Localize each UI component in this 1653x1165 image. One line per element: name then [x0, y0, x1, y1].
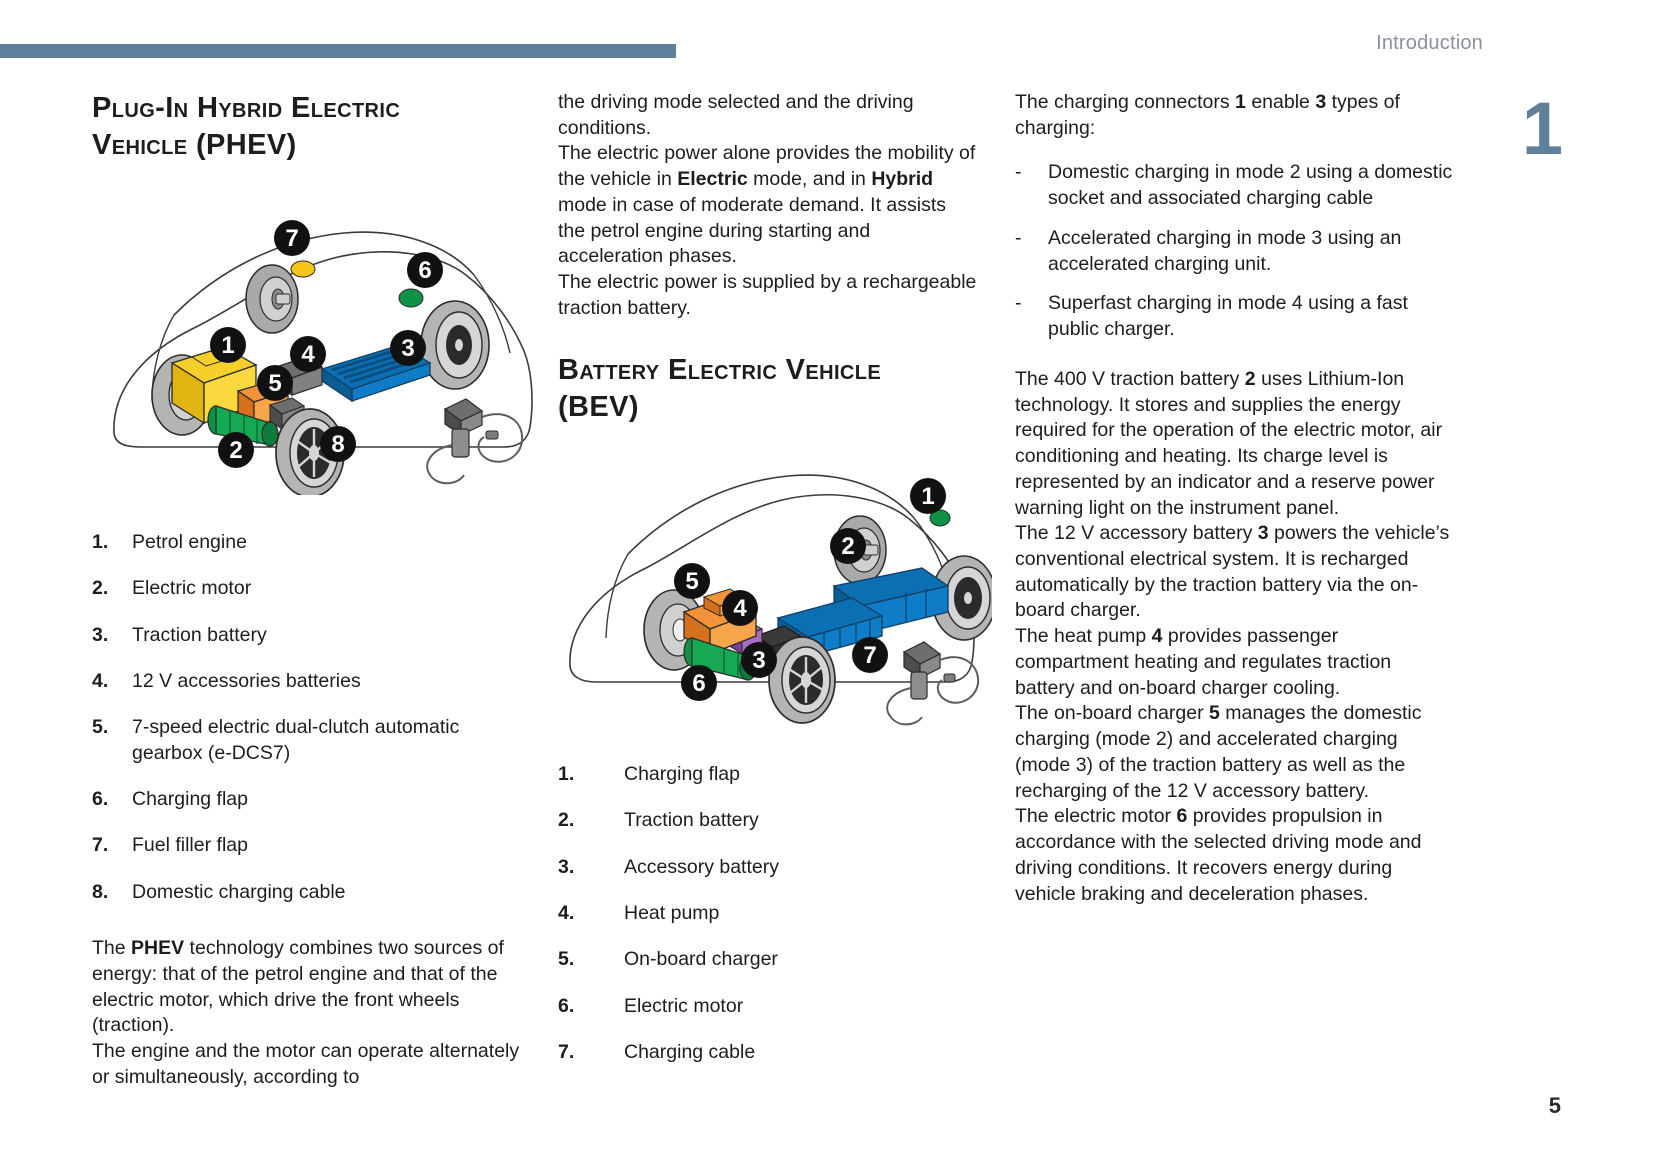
- list-item: 3.Accessory battery: [558, 855, 978, 880]
- svg-text:5: 5: [685, 568, 698, 595]
- phev-operation-paragraph: The engine and the motor can operate alt…: [92, 1039, 532, 1090]
- callout-5: 5: [674, 563, 710, 599]
- fuel-filler-flap-part: [291, 261, 315, 277]
- list-item: 4.Heat pump: [558, 901, 978, 926]
- motor-bold: 6: [1176, 805, 1187, 827]
- svg-text:4: 4: [733, 595, 747, 622]
- list-number: 7.: [558, 1040, 624, 1065]
- traction-pre: The 400 V traction battery: [1015, 368, 1245, 390]
- svg-text:1: 1: [221, 332, 234, 359]
- heatpump-bold: 4: [1152, 625, 1163, 647]
- list-item: 4.12 V accessories batteries: [92, 669, 532, 694]
- list-text: Electric motor: [132, 576, 532, 601]
- svg-text:7: 7: [863, 642, 876, 669]
- list-item: -Accelerated charging in mode 3 using an…: [1015, 226, 1455, 277]
- bev-parts-list-block: 1.Charging flap 2.Traction battery 3.Acc…: [558, 762, 978, 1086]
- bev-title-line2: (BEV): [558, 391, 639, 423]
- list-text: Accelerated charging in mode 3 using an …: [1048, 226, 1455, 277]
- charging-flap-part: [399, 289, 423, 307]
- svg-text:3: 3: [752, 647, 765, 674]
- callout-6: 6: [407, 252, 443, 288]
- list-item: -Domestic charging in mode 2 using a dom…: [1015, 160, 1455, 211]
- chapter-number: 1: [1522, 92, 1561, 166]
- list-text: Electric motor: [624, 994, 978, 1019]
- callout-8: 8: [320, 426, 356, 462]
- intro-mid: enable: [1246, 91, 1315, 113]
- list-item: 7.Fuel filler flap: [92, 833, 532, 858]
- phev-technology-paragraph: The PHEV technology combines two sources…: [92, 936, 532, 1039]
- traction-bold: 2: [1245, 368, 1256, 390]
- front-right-wheel: [769, 637, 835, 723]
- list-text: Accessory battery: [624, 855, 978, 880]
- obc-pre: The on-board charger: [1015, 702, 1209, 724]
- mid-bold-electric: Electric: [677, 168, 747, 190]
- list-number: 5.: [558, 947, 624, 972]
- callout-1: 1: [910, 478, 946, 514]
- callout-5: 5: [257, 365, 293, 401]
- electric-motor-paragraph: The electric motor 6 provides propulsion…: [1015, 804, 1455, 907]
- phev-cutaway-diagram: 1 2 3 4 5 6 7: [100, 195, 540, 495]
- callout-2: 2: [218, 432, 254, 468]
- svg-text:1: 1: [921, 483, 934, 510]
- callout-4: 4: [290, 336, 326, 372]
- charging-connectors-paragraph: The charging connectors 1 enable 3 types…: [1015, 90, 1455, 141]
- dash-marker: -: [1015, 226, 1048, 277]
- list-text: 7-speed electric dual-clutch automatic g…: [132, 715, 532, 766]
- header-rule: [0, 44, 676, 58]
- motor-pre: The electric motor: [1015, 805, 1176, 827]
- list-text: Charging flap: [132, 787, 532, 812]
- rear-axle-hub: [246, 265, 298, 333]
- heatpump-pre: The heat pump: [1015, 625, 1152, 647]
- list-text: Charging cable: [624, 1040, 978, 1065]
- phev-para-bold: PHEV: [131, 937, 184, 959]
- phev-parts-list: 1.Petrol engine 2.Electric motor 3.Tract…: [92, 530, 532, 905]
- phev-parts-list-block: 1.Petrol engine 2.Electric motor 3.Tract…: [92, 530, 532, 1091]
- intro-bold-3: 3: [1315, 91, 1326, 113]
- svg-text:6: 6: [418, 257, 431, 284]
- callout-1: 1: [210, 327, 246, 363]
- intro-bold-1: 1: [1235, 91, 1246, 113]
- list-text: Domestic charging in mode 2 using a dome…: [1048, 160, 1455, 211]
- list-text: Charging flap: [624, 762, 978, 787]
- on-board-charger-paragraph: The on-board charger 5 manages the domes…: [1015, 701, 1455, 804]
- heat-pump-paragraph: The heat pump 4 provides passenger compa…: [1015, 624, 1455, 701]
- list-number: 5.: [92, 715, 132, 766]
- left-column: Plug-In Hybrid Electric Vehicle (PHEV): [92, 90, 532, 170]
- mid-paragraph-electric: The electric power alone provides the mo…: [558, 141, 978, 270]
- mid-para-b: mode, and in: [748, 168, 872, 190]
- callout-2: 2: [830, 528, 866, 564]
- list-item: 3.Traction battery: [92, 623, 532, 648]
- callout-3: 3: [390, 330, 426, 366]
- list-number: 6.: [92, 787, 132, 812]
- list-text: Petrol engine: [132, 530, 532, 555]
- svg-text:2: 2: [229, 437, 242, 464]
- list-text: Fuel filler flap: [132, 833, 532, 858]
- list-text: Heat pump: [624, 901, 978, 926]
- list-number: 1.: [92, 530, 132, 555]
- mid-para-c: mode in case of moderate demand. It assi…: [558, 194, 946, 267]
- list-text: On-board charger: [624, 947, 978, 972]
- list-item: 8.Domestic charging cable: [92, 880, 532, 905]
- callout-3: 3: [741, 642, 777, 678]
- list-text: Traction battery: [132, 623, 532, 648]
- bev-title-line1: Battery Electric Vehicle: [558, 354, 881, 386]
- mid-paragraph-bottom: The electric power is supplied by a rech…: [558, 270, 978, 321]
- list-number: 8.: [92, 880, 132, 905]
- list-number: 4.: [92, 669, 132, 694]
- mid-column: the driving mode selected and the drivin…: [558, 90, 978, 432]
- mid-bold-hybrid: Hybrid: [871, 168, 933, 190]
- accessory-pre: The 12 V accessory battery: [1015, 522, 1258, 544]
- callout-7: 7: [274, 220, 310, 256]
- svg-text:7: 7: [285, 225, 298, 252]
- svg-text:8: 8: [331, 431, 344, 458]
- bev-parts-list: 1.Charging flap 2.Traction battery 3.Acc…: [558, 762, 978, 1065]
- mid-paragraph-top: the driving mode selected and the drivin…: [558, 90, 978, 141]
- bev-section-title: Battery Electric Vehicle (BEV): [558, 352, 978, 426]
- list-item: 1.Charging flap: [558, 762, 978, 787]
- list-item: 2.Electric motor: [92, 576, 532, 601]
- list-text: Traction battery: [624, 808, 978, 833]
- obc-bold: 5: [1209, 702, 1220, 724]
- list-number: 4.: [558, 901, 624, 926]
- list-item: 7.Charging cable: [558, 1040, 978, 1065]
- phev-title-line2: Vehicle (PHEV): [92, 129, 297, 161]
- list-item: 6.Electric motor: [558, 994, 978, 1019]
- list-number: 1.: [558, 762, 624, 787]
- right-column: The charging connectors 1 enable 3 types…: [1015, 90, 1455, 907]
- running-head: Introduction: [1376, 32, 1483, 55]
- phev-para-pre: The: [92, 937, 131, 959]
- svg-text:2: 2: [841, 533, 854, 560]
- dash-marker: -: [1015, 291, 1048, 342]
- dash-marker: -: [1015, 160, 1048, 211]
- list-number: 7.: [92, 833, 132, 858]
- bev-cutaway-diagram: 1 2 3 4 5 6 7: [552, 440, 992, 730]
- svg-text:5: 5: [268, 370, 281, 397]
- rear-wheel: [421, 301, 489, 389]
- traction-battery-paragraph: The 400 V traction battery 2 uses Lithiu…: [1015, 367, 1455, 521]
- accessory-battery-paragraph: The 12 V accessory battery 3 powers the …: [1015, 521, 1455, 624]
- callout-6: 6: [681, 665, 717, 701]
- phev-title-line1: Plug-In Hybrid Electric: [92, 92, 400, 124]
- page-number: 5: [1549, 1093, 1561, 1119]
- svg-text:6: 6: [692, 670, 705, 697]
- list-item: 6.Charging flap: [92, 787, 532, 812]
- list-number: 2.: [92, 576, 132, 601]
- phev-section-title: Plug-In Hybrid Electric Vehicle (PHEV): [92, 90, 532, 164]
- intro-pre: The charging connectors: [1015, 91, 1235, 113]
- list-text: Superfast charging in mode 4 using a fas…: [1048, 291, 1455, 342]
- list-item: 5.7-speed electric dual-clutch automatic…: [92, 715, 532, 766]
- list-item: -Superfast charging in mode 4 using a fa…: [1015, 291, 1455, 342]
- svg-text:3: 3: [401, 335, 414, 362]
- list-text: 12 V accessories batteries: [132, 669, 532, 694]
- list-item: 1.Petrol engine: [92, 530, 532, 555]
- list-item: 2.Traction battery: [558, 808, 978, 833]
- callout-4: 4: [722, 590, 758, 626]
- accessory-bold: 3: [1258, 522, 1269, 544]
- manual-page: Introduction 1 5 Plug-In Hybrid Electric…: [0, 0, 1653, 1165]
- traction-post: uses Lithium-Ion technology. It stores a…: [1015, 368, 1442, 519]
- list-text: Domestic charging cable: [132, 880, 532, 905]
- list-item: 5.On-board charger: [558, 947, 978, 972]
- list-number: 2.: [558, 808, 624, 833]
- charging-modes-list: -Domestic charging in mode 2 using a dom…: [1015, 160, 1455, 342]
- list-number: 3.: [92, 623, 132, 648]
- list-number: 6.: [558, 994, 624, 1019]
- list-number: 3.: [558, 855, 624, 880]
- svg-text:4: 4: [301, 341, 315, 368]
- callout-7: 7: [852, 637, 888, 673]
